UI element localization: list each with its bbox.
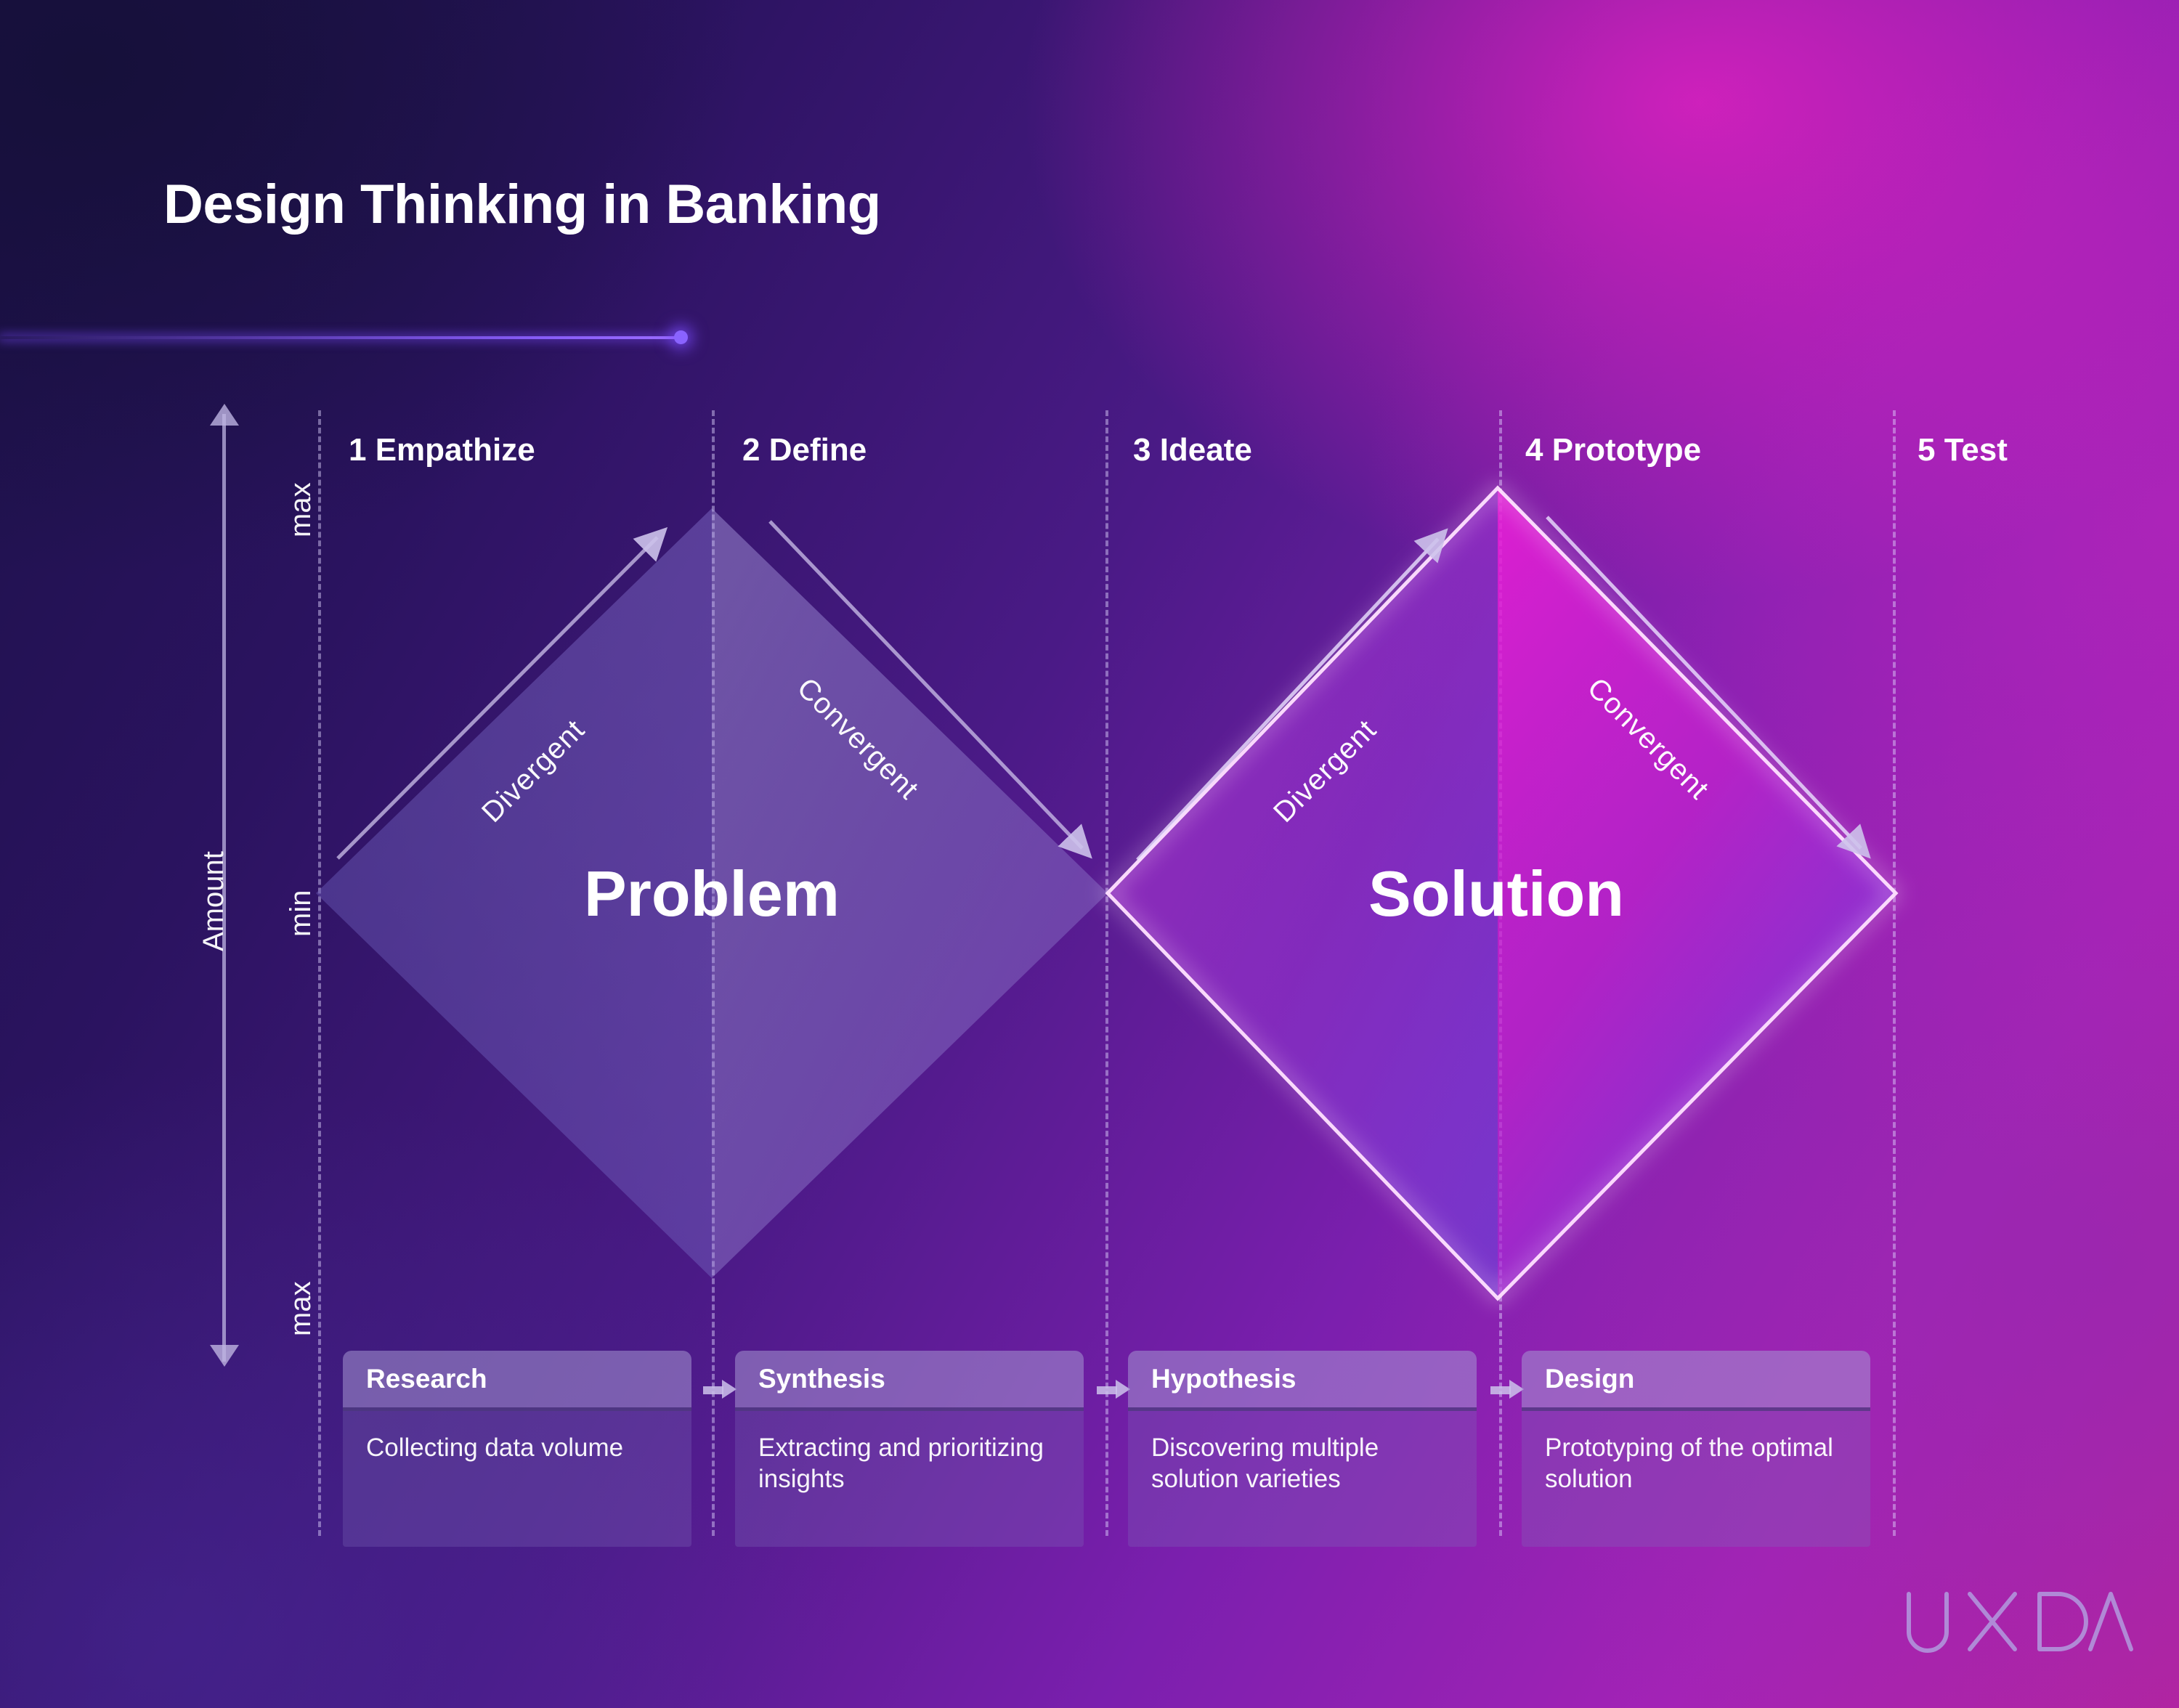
label-divergent-problem: Divergent [476, 714, 591, 829]
stage-label-4: 4 Prototype [1525, 432, 1701, 468]
stage-label-2: 2 Define [742, 432, 867, 468]
flow-arrow-icon [1490, 1380, 1524, 1399]
logo-letter-u [1909, 1594, 1947, 1651]
stage-divider-5 [1893, 410, 1896, 1536]
logo-letter-x [1970, 1594, 2015, 1649]
list-item[interactable]: Hypothesis Discovering multiple solution… [1128, 1351, 1477, 1547]
stage-label-3: 3 Ideate [1133, 432, 1252, 468]
card-header: Design [1522, 1351, 1870, 1411]
card-title: Hypothesis [1128, 1364, 1296, 1394]
accent-line-decoration [0, 336, 679, 339]
card-description: Discovering multiple solution varieties [1128, 1411, 1477, 1494]
axis-tick-bottom: max [285, 1281, 317, 1336]
card-header: Synthesis [735, 1351, 1084, 1411]
diamond-caption-problem: Problem [552, 857, 872, 931]
label-convergent-solution: Convergent [1581, 672, 1715, 806]
card-title: Research [343, 1364, 487, 1394]
card-title: Synthesis [735, 1364, 885, 1394]
stage-label-5: 5 Test [1918, 432, 2008, 468]
page-title: Design Thinking in Banking [163, 173, 881, 236]
flow-arrow-icon [703, 1380, 737, 1399]
infographic-canvas: Design Thinking in Banking Amount max mi… [0, 0, 2179, 1708]
card-header: Hypothesis [1128, 1351, 1477, 1411]
stage-divider-3 [1105, 410, 1108, 1536]
logo-letter-a [2090, 1594, 2131, 1649]
list-item[interactable]: Design Prototyping of the optimal soluti… [1522, 1351, 1870, 1547]
axis-tick-mid: min [285, 890, 317, 937]
label-divergent-solution: Divergent [1267, 714, 1383, 829]
axis-name-label: Amount [198, 851, 230, 951]
uxda-logo [1903, 1587, 2135, 1670]
card-description: Collecting data volume [343, 1411, 691, 1464]
logo-letter-d [2040, 1594, 2086, 1649]
axis-arrow-down-icon [210, 1345, 239, 1367]
stage-divider-4 [1499, 410, 1502, 1536]
stage-label-1: 1 Empathize [349, 432, 535, 468]
axis-arrow-up-icon [210, 404, 239, 426]
card-description: Prototyping of the optimal solution [1522, 1411, 1870, 1494]
list-item[interactable]: Synthesis Extracting and prioritizing in… [735, 1351, 1084, 1547]
card-title: Design [1522, 1364, 1634, 1394]
card-header: Research [343, 1351, 691, 1411]
card-description: Extracting and prioritizing insights [735, 1411, 1084, 1494]
stage-divider-1 [318, 410, 321, 1536]
diamond-caption-solution: Solution [1336, 857, 1656, 931]
label-convergent-problem: Convergent [790, 672, 925, 806]
flow-arrow-icon [1097, 1380, 1130, 1399]
accent-dot-decoration [674, 330, 688, 344]
axis-tick-top: max [285, 482, 317, 537]
stage-divider-2 [712, 410, 715, 1536]
list-item[interactable]: Research Collecting data volume [343, 1351, 691, 1547]
